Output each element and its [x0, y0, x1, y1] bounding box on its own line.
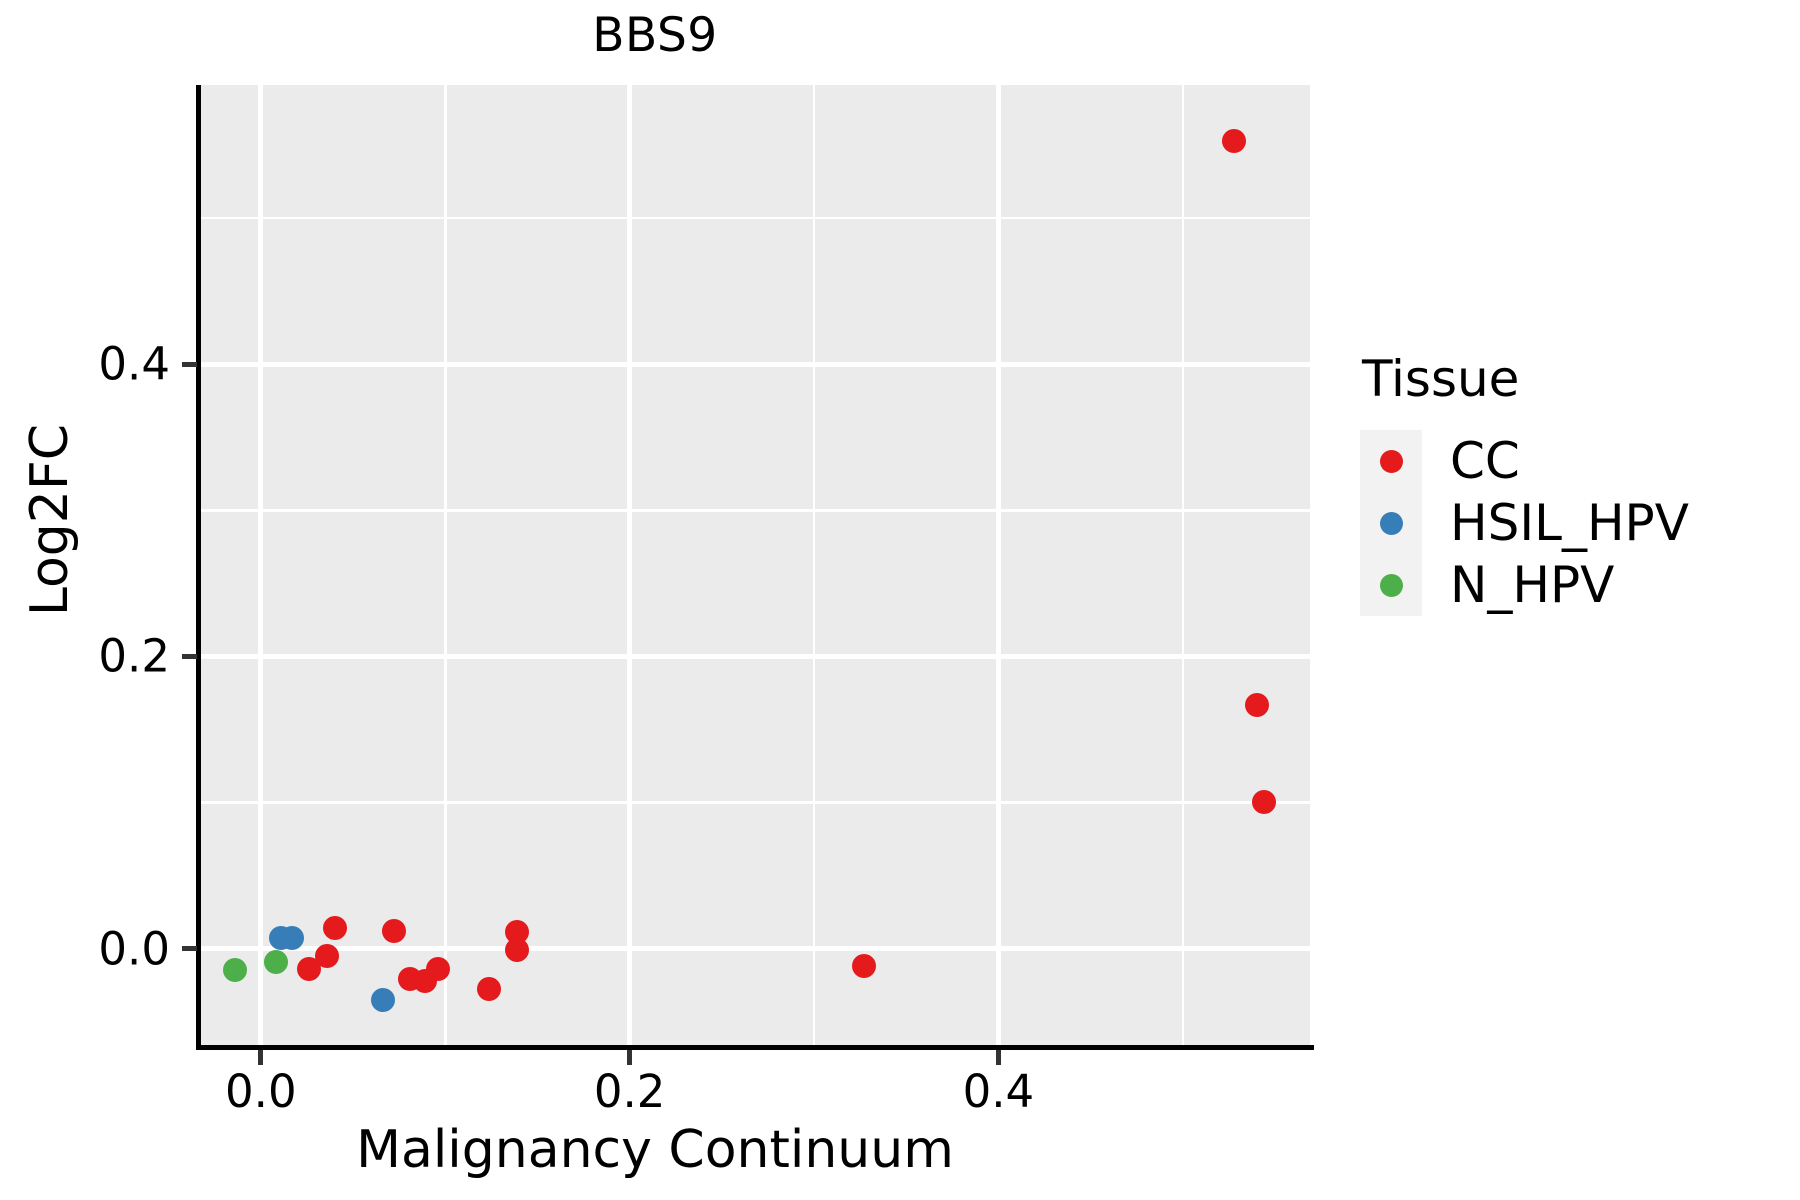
gridline-x-major	[258, 85, 263, 1045]
y-tick-label: 0.0	[0, 922, 170, 975]
data-point	[852, 954, 876, 978]
y-tick-mark	[182, 362, 197, 367]
y-tick-mark	[182, 654, 197, 659]
legend-key-swatch	[1360, 554, 1422, 616]
plot-panel-wrapper	[200, 85, 1310, 1045]
data-point	[1245, 693, 1269, 717]
data-point	[371, 988, 395, 1012]
gridline-y-minor	[200, 509, 1310, 512]
gridline-x-minor	[444, 85, 447, 1045]
legend-key-swatch	[1360, 492, 1422, 554]
page-title: BBS9	[0, 8, 1310, 63]
x-tick-label: 0.0	[225, 1065, 297, 1118]
y-axis-line	[196, 85, 201, 1050]
legend-point-icon	[1380, 512, 1403, 535]
gridline-y-minor	[200, 217, 1310, 220]
legend-point-icon	[1380, 574, 1403, 597]
x-axis-label: Malignancy Continuum	[0, 1120, 1310, 1180]
x-tick-label: 0.4	[963, 1065, 1035, 1118]
gridline-y-major	[200, 362, 1310, 367]
data-point	[505, 938, 529, 962]
legend-key-swatch	[1360, 430, 1422, 492]
data-point	[264, 950, 288, 974]
gridline-x-major	[996, 85, 1001, 1045]
gridline-y-major	[200, 946, 1310, 951]
legend-point-icon	[1380, 450, 1403, 473]
data-point	[477, 977, 501, 1001]
data-point	[323, 916, 347, 940]
x-axis-line	[196, 1045, 1314, 1050]
gridline-x-minor	[1182, 85, 1185, 1045]
y-tick-mark	[182, 946, 197, 951]
data-point	[382, 919, 406, 943]
legend-item-n_hpv[interactable]: N_HPV	[1360, 554, 1780, 616]
data-point	[1252, 790, 1276, 814]
legend-title: Tissue	[1362, 350, 1780, 408]
gridline-x-minor	[813, 85, 816, 1045]
scatter-plot-figure: BBS9 0.00.20.4 0.00.20.4 Malignancy Cont…	[0, 0, 1800, 1200]
legend-item-label: HSIL_HPV	[1450, 494, 1689, 552]
y-axis-label: Log2FC	[20, 320, 80, 720]
legend-item-cc[interactable]: CC	[1360, 430, 1780, 492]
data-point	[280, 926, 304, 950]
x-tick-label: 0.2	[594, 1065, 666, 1118]
data-point	[297, 957, 321, 981]
data-point	[1222, 129, 1246, 153]
data-point	[426, 957, 450, 981]
legend-item-label: N_HPV	[1450, 556, 1614, 614]
x-tick-mark	[996, 1050, 1001, 1065]
gridline-y-major	[200, 654, 1310, 659]
data-point	[223, 958, 247, 982]
x-tick-mark	[627, 1050, 632, 1065]
plot-panel	[200, 85, 1310, 1045]
legend-item-hsil_hpv[interactable]: HSIL_HPV	[1360, 492, 1780, 554]
gridline-y-minor	[200, 801, 1310, 804]
gridline-x-major	[627, 85, 632, 1045]
legend-items: CCHSIL_HPVN_HPV	[1360, 430, 1780, 616]
legend-item-label: CC	[1450, 432, 1520, 490]
x-tick-mark	[258, 1050, 263, 1065]
legend: Tissue CCHSIL_HPVN_HPV	[1360, 350, 1780, 616]
